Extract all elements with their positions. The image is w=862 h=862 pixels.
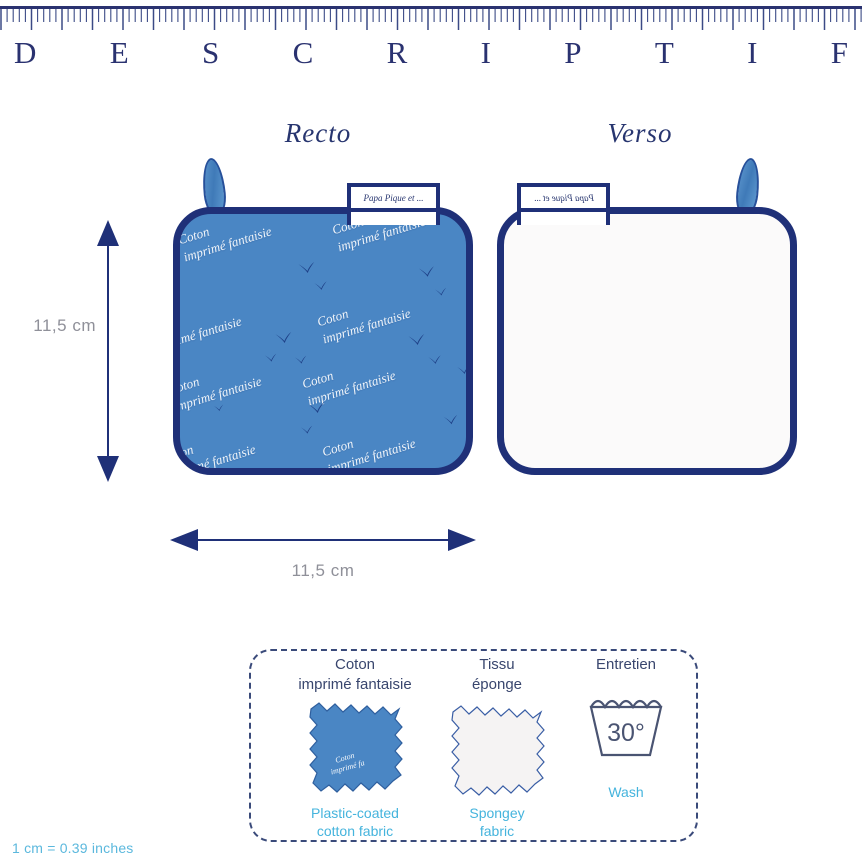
bird-motif-icon xyxy=(297,261,316,275)
legend-subtitle: Plastic-coated cotton fabric xyxy=(280,804,430,842)
bird-motif-icon xyxy=(407,333,426,347)
bird-motif-icon xyxy=(264,353,278,363)
verso-product-back xyxy=(497,207,797,475)
title-letter: I xyxy=(481,35,491,71)
bird-motif-icon xyxy=(294,355,308,365)
fabric-pattern-text: Coton imprimé fantaisie xyxy=(173,355,264,415)
wash-30-icon: 30° xyxy=(583,693,669,765)
recto-label: Recto xyxy=(218,118,418,149)
title-letter: T xyxy=(655,35,674,71)
title-letter: C xyxy=(293,35,314,71)
recto-product-front: Coton imprimé fantaisieCoton imprimé fan… xyxy=(173,207,473,475)
bird-motif-icon xyxy=(418,265,437,279)
fabric-pattern-text: Coton imprimé fantaisie xyxy=(300,349,398,409)
sponge-fabric-swatch xyxy=(447,704,547,796)
bird-motif-icon xyxy=(434,287,448,297)
bird-motif-icon xyxy=(443,414,460,426)
title-letter: I xyxy=(747,35,757,71)
header: D E S C R I P T I F xyxy=(0,0,862,78)
legend-subtitle: Wash xyxy=(551,783,701,802)
height-dimension-label: 11,5 cm xyxy=(16,316,96,336)
title-letter: F xyxy=(831,35,848,71)
height-dimension-arrow xyxy=(94,220,122,482)
title-letter: P xyxy=(564,35,581,71)
swatch-wrap: 30° xyxy=(551,681,701,777)
fabric-pattern-text: Coton imprimé fantaisie xyxy=(173,423,258,475)
bird-motif-icon xyxy=(274,331,293,345)
width-dimension-arrow xyxy=(170,527,476,553)
fabric-pattern-text: Coton imprimé fantaisie xyxy=(173,295,244,355)
bird-motif-icon xyxy=(300,425,314,435)
title-letter: D xyxy=(14,35,36,71)
printed-cotton-swatch xyxy=(305,701,405,793)
legend-title: Coton imprimé fantaisie xyxy=(280,655,430,696)
verso-brand-tag-text: Papa Pique et ... xyxy=(534,193,594,203)
title-letter: R xyxy=(387,35,408,71)
legend-item-printed-cotton: Coton imprimé fantaisie Coton imprimé fa… xyxy=(280,655,430,841)
swatch-wrap: Coton imprimé fa xyxy=(280,702,430,798)
width-dimension-label: 11,5 cm xyxy=(173,561,473,581)
verso-label: Verso xyxy=(540,118,740,149)
ruler-icon xyxy=(0,6,862,32)
title-letter: E xyxy=(110,35,129,71)
legend-item-sponge-fabric: Tissu éponge Spongey fabric xyxy=(422,655,572,841)
title-letter: S xyxy=(202,35,219,71)
bird-motif-icon xyxy=(427,354,442,365)
legend-item-care: Entretien 30° Wash xyxy=(551,655,701,802)
recto-brand-tag: Papa Pique et ... xyxy=(347,183,440,212)
legend-subtitle: Spongey fabric xyxy=(422,804,572,842)
bird-motif-icon xyxy=(470,445,473,455)
fabric-pattern-text: Coton imprimé fantaisie xyxy=(320,417,418,475)
swatch-wrap xyxy=(422,702,572,798)
bird-motif-icon xyxy=(456,364,472,376)
verso-brand-tag: Papa Pique et ... xyxy=(517,183,610,212)
wash-temperature-text: 30° xyxy=(607,719,645,747)
fabric-pattern-text: Coton imprimé fantaisie xyxy=(173,207,268,218)
bird-motif-icon xyxy=(313,280,328,291)
legend-title: Entretien xyxy=(551,655,701,675)
legend-title: Tissu éponge xyxy=(422,655,572,696)
bird-motif-icon xyxy=(307,401,326,415)
page-title: D E S C R I P T I F xyxy=(0,30,862,76)
recto-brand-tag-text: Papa Pique et ... xyxy=(364,193,424,203)
fabric-pattern-text: Coton imprimé fantaisie xyxy=(315,287,413,347)
unit-conversion-note: 1 cm = 0.39 inches xyxy=(12,840,134,856)
fabric-pattern-text: Coton imprimé fantaisie xyxy=(176,207,274,266)
bird-motif-icon xyxy=(213,404,225,413)
